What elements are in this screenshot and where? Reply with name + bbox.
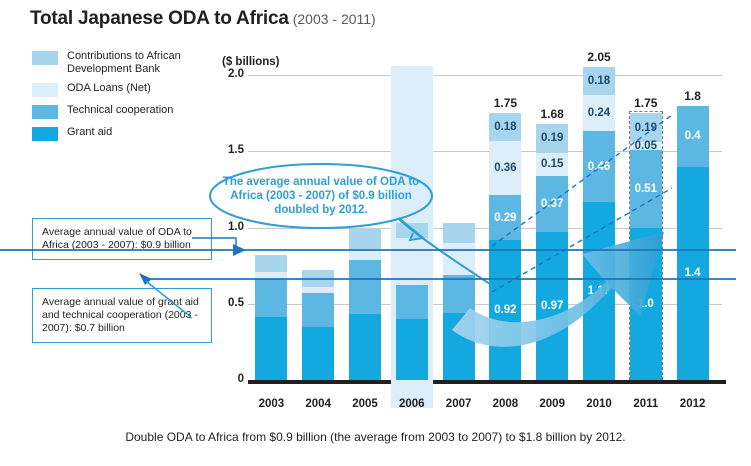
bar-value-2010-3: 0.18	[583, 75, 615, 87]
bar-segment-2006-contributions-to-african-development-bank	[396, 223, 428, 238]
y-axis-tick-0.5: 0.5	[222, 297, 244, 309]
bar-value-2011-1: 0.51	[630, 183, 662, 195]
bar-segment-2008-oda-loans-net: 0.36	[489, 141, 521, 196]
footer-note: Double ODA to Africa from $0.9 billion (…	[0, 430, 751, 444]
bar-segment-2009-grant-aid: 0.97	[536, 232, 568, 380]
y-axis-tick-1.5: 1.5	[222, 144, 244, 156]
bar-value-2008-3: 0.18	[489, 121, 521, 133]
bar-segment-2007-grant-aid	[443, 313, 475, 380]
chart-plot-area: 00.51.01.52.0200320042005200620070.180.3…	[222, 72, 722, 382]
bar-segment-2010-oda-loans-net: 0.24	[583, 95, 615, 132]
bar-2003[interactable]	[255, 255, 287, 380]
y-axis-tick-1.0: 1.0	[222, 221, 244, 233]
title-year-range: (2003 - 2011)	[293, 11, 376, 27]
bar-value-2011-0: 1.0	[630, 298, 662, 310]
bar-segment-2010-contributions-to-african-development-bank: 0.18	[583, 67, 615, 94]
bar-value-2012-1: 0.4	[677, 130, 709, 142]
bar-value-2011-3: 0.19	[630, 122, 662, 134]
bar-segment-2005-grant-aid	[349, 314, 381, 380]
bar-total-2009: 1.68	[528, 107, 576, 121]
bar-segment-2012-technical-cooperation: 0.4	[677, 106, 709, 167]
bar-segment-2011-contributions-to-african-development-bank: 0.19	[630, 113, 662, 142]
bar-segment-2006-grant-aid	[396, 319, 428, 380]
legend-item-oda-loans: ODA Loans (Net)	[32, 82, 222, 97]
bar-segment-2011-grant-aid: 1.0	[630, 228, 662, 381]
bar-segment-2006-oda-loans-net	[396, 238, 428, 285]
bar-value-2009-0: 0.97	[536, 300, 568, 312]
bar-segment-2011-technical-cooperation: 0.51	[630, 150, 662, 228]
bar-value-2010-0: 1.17	[583, 285, 615, 297]
bar-segment-2003-technical-cooperation	[255, 279, 287, 317]
bar-segment-2008-grant-aid: 0.92	[489, 240, 521, 380]
bar-value-2009-2: 0.15	[536, 158, 568, 170]
bar-value-2010-1: 0.46	[583, 161, 615, 173]
bar-segment-2004-grant-aid	[302, 327, 334, 380]
bar-segment-2005-contributions-to-african-development-bank	[349, 229, 381, 249]
bar-2008[interactable]: 0.180.360.290.921.75	[489, 113, 521, 380]
bar-segment-2010-technical-cooperation: 0.46	[583, 131, 615, 201]
y-axis-unit: ($ billions)	[222, 56, 280, 68]
gridline-2.0	[248, 75, 722, 76]
legend-label-afdb: Contributions to African Development Ban…	[67, 50, 222, 75]
chart-page: Total Japanese ODA to Africa(2003 - 2011…	[0, 0, 751, 466]
bar-segment-2010-grant-aid: 1.17	[583, 202, 615, 380]
bar-segment-2003-contributions-to-african-development-bank	[255, 255, 287, 272]
legend-swatch-oda-loans	[32, 83, 58, 97]
bar-2010[interactable]: 0.180.240.461.172.05	[583, 67, 615, 380]
chart-legend: Contributions to African Development Ban…	[32, 50, 222, 148]
bar-value-2008-2: 0.36	[489, 162, 521, 174]
legend-item-afdb: Contributions to African Development Ban…	[32, 50, 222, 75]
legend-label-oda-loans: ODA Loans (Net)	[67, 82, 151, 95]
legend-swatch-grant-aid	[32, 127, 58, 141]
bar-segment-2007-technical-cooperation	[443, 275, 475, 313]
bar-value-2009-3: 0.19	[536, 132, 568, 144]
bar-segment-2007-oda-loans-net	[443, 243, 475, 275]
bar-value-2008-0: 0.92	[489, 304, 521, 316]
legend-item-grant-aid: Grant aid	[32, 126, 222, 141]
bar-segment-2009-oda-loans-net: 0.15	[536, 153, 568, 176]
bar-segment-2003-grant-aid	[255, 317, 287, 380]
bar-2009[interactable]: 0.190.150.370.971.68	[536, 124, 568, 380]
y-axis-tick-2.0: 2.0	[222, 68, 244, 80]
bar-segment-2004-technical-cooperation	[302, 293, 334, 327]
legend-swatch-afdb	[32, 51, 58, 65]
bar-total-2008: 1.75	[481, 96, 529, 110]
bar-2007[interactable]	[443, 223, 475, 380]
bar-2012[interactable]: 0.41.41.8	[677, 106, 709, 381]
bar-2005[interactable]	[349, 229, 381, 380]
x-axis-baseline	[248, 380, 726, 384]
bar-value-2008-1: 0.29	[489, 212, 521, 224]
bar-total-2011: 1.75	[622, 96, 670, 110]
bar-total-2012: 1.8	[669, 89, 717, 103]
bar-segment-2003-oda-loans-net	[255, 272, 287, 280]
title-main: Total Japanese ODA to Africa	[30, 8, 289, 29]
bar-value-2009-1: 0.37	[536, 198, 568, 210]
bar-segment-2004-contributions-to-african-development-bank	[302, 270, 334, 287]
bar-segment-2012-grant-aid: 1.4	[677, 167, 709, 381]
legend-swatch-technical-cooperation	[32, 105, 58, 119]
bar-2004[interactable]	[302, 270, 334, 380]
bar-segment-2008-technical-cooperation: 0.29	[489, 195, 521, 239]
x-axis-label-2012: 2012	[666, 398, 720, 410]
annotation-box-grant-tech-average: Average annual value of grant aid and te…	[32, 288, 212, 343]
page-title: Total Japanese ODA to Africa(2003 - 2011…	[30, 8, 376, 30]
annotation-box-grant-tech-average-text: Average annual value of grant aid and te…	[42, 296, 199, 334]
legend-label-grant-aid: Grant aid	[67, 126, 112, 139]
bar-total-2010: 2.05	[575, 50, 623, 64]
bar-segment-2007-contributions-to-african-development-bank	[443, 223, 475, 243]
bar-segment-2005-oda-loans-net	[349, 249, 381, 260]
legend-label-technical-cooperation: Technical cooperation	[67, 104, 173, 117]
callout-text: The average annual value of ODA to Afric…	[214, 175, 428, 217]
legend-item-technical-cooperation: Technical cooperation	[32, 104, 222, 119]
y-axis-tick-0: 0	[222, 373, 244, 385]
bar-segment-2008-contributions-to-african-development-bank: 0.18	[489, 113, 521, 140]
bar-segment-2009-contributions-to-african-development-bank: 0.19	[536, 124, 568, 153]
bar-2011[interactable]: 0.190.050.511.01.75	[630, 113, 662, 380]
bar-2006[interactable]	[396, 223, 428, 380]
annotation-box-oda-average: Average annual value of ODA to Africa (2…	[32, 218, 212, 260]
bar-value-2012-0: 1.4	[677, 267, 709, 279]
bar-segment-2006-technical-cooperation	[396, 285, 428, 319]
bar-segment-2005-technical-cooperation	[349, 260, 381, 315]
bar-segment-2011-oda-loans-net: 0.05	[630, 142, 662, 150]
bar-segment-2009-technical-cooperation: 0.37	[536, 176, 568, 232]
bar-value-2010-2: 0.24	[583, 107, 615, 119]
annotation-box-oda-average-text: Average annual value of ODA to Africa (2…	[42, 226, 192, 251]
